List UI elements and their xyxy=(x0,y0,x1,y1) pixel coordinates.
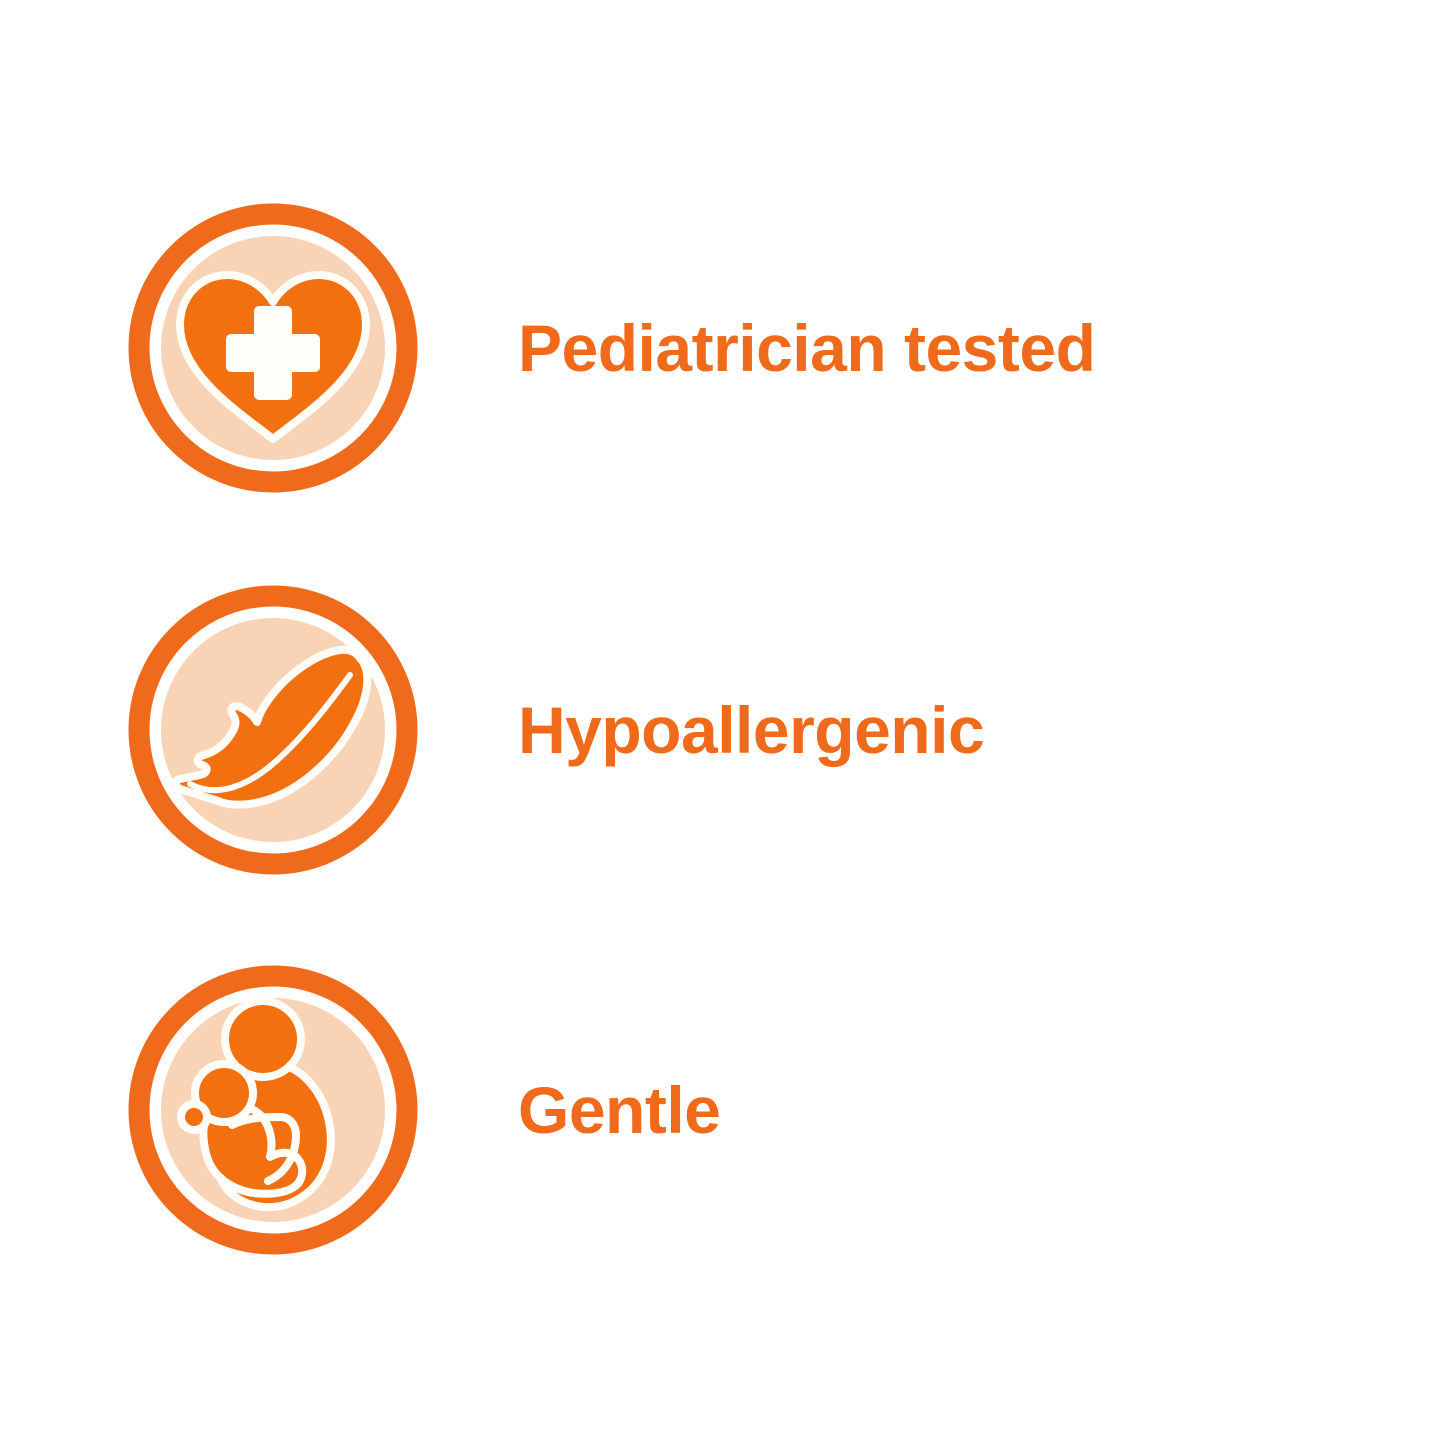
feature-label-gentle: Gentle xyxy=(518,965,720,1255)
badge-pediatrician-tested xyxy=(128,203,418,493)
feature-row-pediatrician-tested: Pediatrician tested xyxy=(0,203,1445,493)
heart-medical-cross-icon xyxy=(128,203,418,493)
feature-row-hypoallergenic: Hypoallergenic xyxy=(0,585,1445,875)
product-benefits-panel: Pediatrician tested Hypoallergenic xyxy=(0,0,1445,1444)
badge-hypoallergenic xyxy=(128,585,418,875)
mother-holding-baby-icon xyxy=(128,965,418,1255)
feature-label-pediatrician-tested: Pediatrician tested xyxy=(518,203,1095,493)
feature-row-gentle: Gentle xyxy=(0,965,1445,1255)
feature-label-hypoallergenic: Hypoallergenic xyxy=(518,585,984,875)
feather-icon xyxy=(128,585,418,875)
badge-gentle xyxy=(128,965,418,1255)
